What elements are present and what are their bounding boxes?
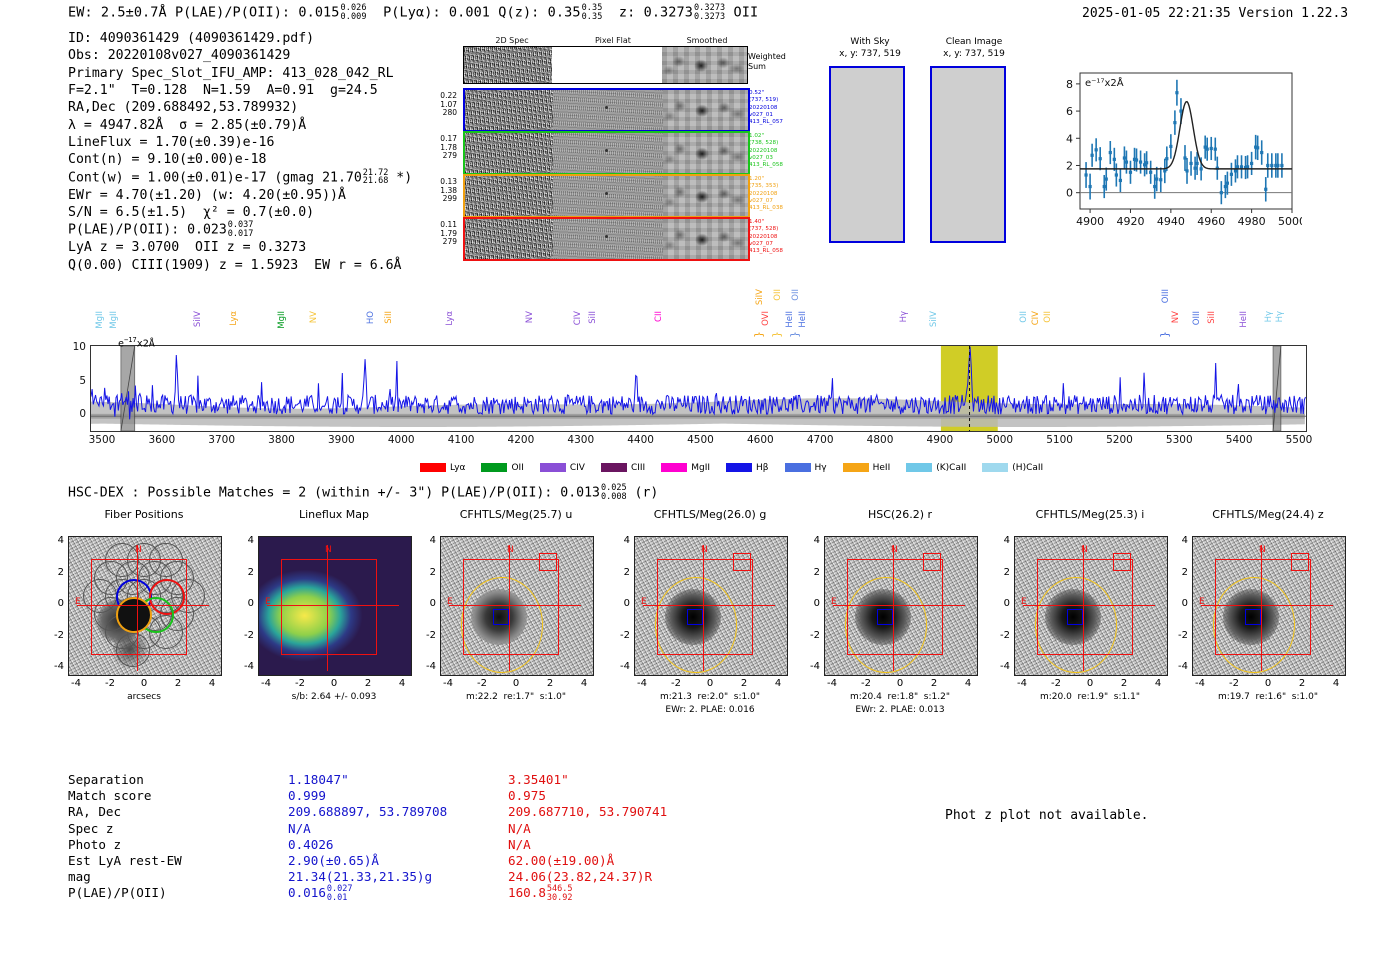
spectrum-line-label: NV [309, 311, 319, 323]
compass-east-label: E [75, 597, 81, 607]
cutout-xtick: 0 [696, 678, 724, 689]
match-plae-lo: 0.01 [327, 893, 347, 903]
spectrum-legend-item: HeII [843, 463, 891, 473]
match-table-value-col1: 1.18047" [288, 772, 349, 788]
cutout-xtick: 4 [954, 678, 982, 689]
svg-text:4900: 4900 [1076, 215, 1104, 228]
cutout-caption: m:20.4 re:1.8" s:1.2" [790, 692, 1010, 702]
cutout-xtick: -2 [852, 678, 880, 689]
spectrum-xtick: 4100 [439, 434, 483, 446]
compass-north-label: N [891, 545, 898, 555]
match-table-label: mag [68, 869, 91, 885]
spectrum-line-label: HeII [1239, 311, 1249, 328]
info-lambda-sigma: λ = 4947.82Å σ = 2.85(±0.79)Å [68, 117, 412, 134]
cutout-caption: m:21.3 re:2.0" s:1.0" [600, 692, 820, 702]
cutout-ytick: -2 [418, 630, 436, 641]
cutout-ytick: 2 [992, 567, 1010, 578]
spectrum-legend-item: Hβ [726, 463, 769, 473]
spectrum-flux-annotation: e−17x2Å [118, 336, 155, 349]
info-snr-chi2: S/N = 6.5(±1.5) χ² = 0.7(±0.0) [68, 204, 412, 221]
cutout-xtick: -4 [818, 678, 846, 689]
info-obs: Obs: 20220108v027_4090361429 [68, 47, 412, 64]
cutout-ytick: 0 [46, 598, 64, 609]
cutout-xtick: -2 [286, 678, 314, 689]
spectrum-line-label: OII [1019, 311, 1029, 323]
cutout-title: Fiber Positions [40, 508, 248, 521]
info-ewr: EWr = 4.70(±1.20) (w: 4.20(±0.95))Å [68, 187, 412, 204]
info-redshifts: LyA z = 3.0700 OII z = 0.3273 [68, 239, 412, 256]
cutout-xtick: -2 [1042, 678, 1070, 689]
cutout-xtick: 2 [730, 678, 758, 689]
cutout-ytick: 0 [1170, 598, 1188, 609]
svg-text:4980: 4980 [1238, 215, 1266, 228]
spectrum-ytick: 10 [60, 341, 86, 353]
cutout-ytick: 2 [612, 567, 630, 578]
cutout-ytick: -2 [46, 630, 64, 641]
spectrum-line-label: NV [1171, 311, 1181, 323]
spectrum-line-label: SiII [384, 311, 394, 324]
match-table-label: P(LAE)/P(OII) [68, 885, 167, 901]
info-plae-poii: P(LAE)/P(OII): 0.0230.0370.017 [68, 221, 412, 239]
match-table-value-col1: 209.688897, 53.789708 [288, 804, 447, 820]
cutout-xtick: 0 [1254, 678, 1282, 689]
spec2d-row-annotation: 1.02" (738, 528) 20220108 v027_03 413_RL… [749, 133, 783, 169]
hscdex-plae-lo: 0.008 [601, 492, 627, 502]
match-table-label: Est LyA rest-EW [68, 853, 182, 869]
cutout-xtick: 0 [1076, 678, 1104, 689]
legend-label: (K)CaII [936, 463, 966, 473]
hscdex-plae: 0.013 [560, 486, 600, 501]
spectrum-line-label: CII [654, 311, 664, 322]
cutout-ytick: -2 [992, 630, 1010, 641]
spectrum-line-label: HeII [798, 311, 808, 328]
svg-text:8: 8 [1066, 78, 1073, 91]
header-z-lo: 0.3273 [694, 12, 725, 22]
spectrum-ytick: 5 [60, 375, 86, 387]
compass-east-label: E [831, 597, 837, 607]
hscdex-text: HSC-DEX : Possible Matches = 2 (within +… [68, 486, 560, 501]
cutout-title: CFHTLS/Meg(24.4) z [1164, 508, 1372, 521]
spectrum-legend-item: (K)CaII [906, 463, 966, 473]
legend-label: Hγ [815, 463, 827, 473]
cutout-ytick: 0 [418, 598, 436, 609]
cutout-xtick: -2 [468, 678, 496, 689]
timestamp-version: 2025-01-05 22:21:35 Version 1.22.3 [1082, 6, 1348, 21]
line-profile-plot: 02468490049204940496049805000e⁻¹⁷x2Å [1040, 55, 1302, 243]
spectrum-line-label: OIII [1161, 289, 1171, 303]
spectrum-line-label: SiII [1207, 311, 1217, 324]
match-table-value-col1: 21.34(21.33,21.35)g [288, 869, 432, 885]
cutout-xtick: 0 [130, 678, 158, 689]
spectrum-line-label: HO [366, 311, 376, 324]
legend-swatch [726, 463, 752, 472]
cutout-panel[interactable]: NE [824, 536, 978, 676]
compass-north-label: N [135, 545, 142, 555]
full-spectrum-plot [90, 345, 1307, 432]
cutout-ytick: 4 [802, 535, 820, 546]
spectrum-xtick: 5300 [1157, 434, 1201, 446]
legend-swatch [540, 463, 566, 472]
spec2d-fiber-row [463, 88, 750, 132]
header-summary: EW: 2.5±0.7Å P(LAE)/P(OII): 0.0150.0260.… [68, 4, 758, 21]
match-table-value-col2: 160.8546.530.92 [508, 885, 573, 902]
crosshair-horizontal [77, 605, 209, 606]
spec2d-fiber-row [463, 217, 750, 261]
cutout-ytick: 4 [46, 535, 64, 546]
match-table-value-col2: N/A [508, 821, 531, 837]
svg-text:e⁻¹⁷x2Å: e⁻¹⁷x2Å [1085, 76, 1124, 89]
spectrum-ytick: 0 [60, 408, 86, 420]
cutout-xtick: -4 [1186, 678, 1214, 689]
header-plae-value: 0.015 [298, 5, 339, 21]
spectrum-line-label: CIV [1031, 311, 1041, 325]
spectrum-xtick: 3500 [80, 434, 124, 446]
header-z-text: z: [619, 5, 644, 21]
header-qz-lo: 0.35 [582, 12, 603, 22]
spectrum-line-label: HeII [785, 311, 795, 328]
legend-label: HeII [873, 463, 891, 473]
cutout-xtick: -4 [62, 678, 90, 689]
info-radec: RA,Dec (209.688492,53.789932) [68, 99, 412, 116]
cutout-xtick: -4 [1008, 678, 1036, 689]
spectrum-legend-item: (H)CaII [982, 463, 1043, 473]
photoz-note: Phot z plot not available. [945, 808, 1149, 823]
match-table-label: RA, Dec [68, 804, 121, 820]
with-sky-title: With Skyx, y: 737, 519 [824, 36, 916, 60]
compass-north-label: N [1081, 545, 1088, 555]
match-plae-value: 0.016 [288, 886, 326, 901]
cutout-xtick: -4 [434, 678, 462, 689]
spec2d-title-pixelflat: Pixel Flat [582, 36, 644, 45]
cutout-ytick: 4 [236, 535, 254, 546]
cutout-ytick: -2 [1170, 630, 1188, 641]
spectrum-line-brace: { [754, 331, 765, 338]
crosshair-horizontal [267, 605, 399, 606]
cutout-xlabel: arcsecs [40, 692, 248, 702]
cutout-xtick: -4 [252, 678, 280, 689]
spectrum-line-label: CIV [573, 311, 583, 325]
cutout-panel[interactable]: NE [68, 536, 222, 676]
spectrum-line-label: OII [773, 289, 783, 301]
spectrum-legend: LyαOIICIVCIIIMgIIHβHγHeII(K)CaII(H)CaII [420, 455, 1020, 474]
crosshair-vertical [137, 545, 138, 671]
legend-label: CIV [570, 463, 585, 473]
hscdex-suffix: (r) [635, 486, 659, 501]
spectrum-line-label: Lyα [229, 311, 239, 326]
cutout-ytick: -4 [992, 661, 1010, 672]
legend-swatch [661, 463, 687, 472]
compass-east-label: E [641, 597, 647, 607]
spectrum-line-label: Hγ [899, 311, 909, 322]
legend-swatch [481, 463, 507, 472]
cutout-panel[interactable]: NE [258, 536, 412, 676]
spectrum-xtick: 3700 [200, 434, 244, 446]
header-plya-qz-text: P(Lyα): 0.001 Q(z): [383, 5, 548, 21]
spectrum-line-brace: { [1160, 331, 1171, 338]
cutout-xtick: 2 [920, 678, 948, 689]
cutout-ytick: -4 [1170, 661, 1188, 672]
compass-north-label: N [701, 545, 708, 555]
match-table-value-col1: N/A [288, 821, 311, 837]
cutout-panel[interactable]: NE [440, 536, 594, 676]
spec2d-title-smoothed: Smoothed [672, 36, 742, 45]
spectrum-legend-item: Hγ [785, 463, 827, 473]
cutout-panel[interactable]: NE [1014, 536, 1168, 676]
cutout-ytick: 0 [236, 598, 254, 609]
spec2d-row-numbers: 0.22 1.07 280 [425, 92, 457, 118]
svg-text:2: 2 [1066, 159, 1073, 172]
header-z-value: 0.3273 [644, 5, 693, 21]
spec2d-weighted-sum-row [463, 46, 748, 84]
cutout-xtick: 4 [764, 678, 792, 689]
svg-text:4960: 4960 [1197, 215, 1225, 228]
match-table-value-col2: 209.687710, 53.790741 [508, 804, 667, 820]
spectrum-legend-item: Lyα [420, 463, 465, 473]
info-lineflux: LineFlux = 1.70(±0.39)e-16 [68, 134, 412, 151]
clean-image-title: Clean Imagex, y: 737, 519 [924, 36, 1024, 60]
cutout-xtick: 4 [570, 678, 598, 689]
cutout-xtick: 2 [354, 678, 382, 689]
legend-swatch [982, 463, 1008, 472]
compass-east-label: E [447, 597, 453, 607]
spectrum-legend-item: OII [481, 463, 523, 473]
spectrum-line-label: SiIV [193, 311, 203, 327]
spectrum-line-label: SiIV [755, 289, 765, 305]
cutout-ytick: 4 [418, 535, 436, 546]
match-table-value-col2: 24.06(23.82,24.37)R [508, 869, 652, 885]
cutout-xtick: 0 [502, 678, 530, 689]
info-id: ID: 4090361429 (4090361429.pdf) [68, 30, 412, 47]
compass-east-label: E [265, 597, 271, 607]
cutout-title: Lineflux Map [230, 508, 438, 521]
svg-text:4: 4 [1066, 132, 1073, 145]
spectrum-line-label: Hγ [1275, 311, 1285, 322]
compass-north-label: N [507, 545, 514, 555]
spectrum-xtick: 5100 [1038, 434, 1082, 446]
spectrum-line-label: NV [525, 311, 535, 323]
spectrum-xtick: 5000 [978, 434, 1022, 446]
cutout-xtick: -2 [1220, 678, 1248, 689]
cutout-xtick: -2 [662, 678, 690, 689]
cutout-title: CFHTLS/Meg(26.0) g [606, 508, 814, 521]
legend-swatch [601, 463, 627, 472]
cutout-ytick: -2 [802, 630, 820, 641]
spectrum-xtick: 4300 [559, 434, 603, 446]
info-seeing: F=2.1" T=0.128 N=1.59 A=0.91 g=24.5 [68, 82, 412, 99]
cutout-xtick: 2 [536, 678, 564, 689]
compass-east-label: E [1021, 597, 1027, 607]
cutout-ytick: -4 [236, 661, 254, 672]
svg-text:5000: 5000 [1278, 215, 1302, 228]
svg-text:4940: 4940 [1157, 215, 1185, 228]
spectrum-line-brace: { [772, 331, 783, 338]
match-plae-lo: 30.92 [547, 893, 573, 903]
match-table-value-col2: N/A [508, 837, 531, 853]
spectrum-line-label: SiII [588, 311, 598, 324]
match-table-value-col1: 2.90(±0.65)Å [288, 853, 379, 869]
match-table-value-col1: 0.0160.0270.01 [288, 885, 353, 902]
match-table-value-col2: 0.975 [508, 788, 546, 804]
hscdex-summary: HSC-DEX : Possible Matches = 2 (within +… [68, 484, 658, 501]
cutout-panel[interactable]: NE [634, 536, 788, 676]
header-plae-lo: 0.009 [341, 12, 367, 22]
legend-label: Lyα [450, 463, 465, 473]
match-table-value-col1: 0.4026 [288, 837, 334, 853]
cutout-xtick: 4 [1144, 678, 1172, 689]
legend-label: (H)CaII [1012, 463, 1043, 473]
spec2d-row-annotation: 0.52" (737, 519) 20220108 v027_01 413_RL… [749, 90, 783, 126]
svg-text:4920: 4920 [1116, 215, 1144, 228]
cutout-panel[interactable]: NE [1192, 536, 1346, 676]
full-spectrum-svg [91, 346, 1306, 431]
cutout-ytick: 2 [1170, 567, 1188, 578]
cutout-xtick: 0 [320, 678, 348, 689]
legend-swatch [843, 463, 869, 472]
detection-box [281, 559, 377, 655]
clean-image [930, 66, 1006, 243]
match-table-value-col2: 3.35401" [508, 772, 569, 788]
info-cont-w: Cont(w) = 1.00(±0.01)e-17 (gmag 21.7021.… [68, 169, 412, 187]
spectrum-line-brace: { [790, 331, 801, 338]
source-info-block: ID: 4090361429 (4090361429.pdf) Obs: 202… [68, 30, 412, 274]
crosshair-vertical [327, 545, 328, 671]
spectrum-xtick: 4900 [918, 434, 962, 446]
spec2d-weighted-sum-label: Weighted Sum [748, 52, 786, 71]
spectrum-line-labels: MgII{MgII{SiIV{Lyα{MgII{NV{HO{SiII{Lyα{N… [0, 285, 1400, 347]
cutout-xtick: 4 [1322, 678, 1350, 689]
cutout-title: CFHTLS/Meg(25.7) u [412, 508, 620, 521]
legend-label: MgII [691, 463, 710, 473]
cutout-xtick: 2 [1288, 678, 1316, 689]
spectrum-line-label: MgII [109, 311, 119, 329]
spectrum-legend-item: CIII [601, 463, 645, 473]
spectrum-xtick: 3800 [260, 434, 304, 446]
cutout-xtick: 0 [886, 678, 914, 689]
cutout-xtick: 4 [198, 678, 226, 689]
spectrum-line-label: SiIV [929, 311, 939, 327]
cutout-ytick: 2 [802, 567, 820, 578]
cutout-ytick: 2 [418, 567, 436, 578]
spec2d-fiber-row [463, 131, 750, 175]
cutout-ytick: -2 [612, 630, 630, 641]
cutout-ytick: 4 [612, 535, 630, 546]
cutout-caption: m:19.7 re:1.6" s:1.0" [1158, 692, 1378, 702]
svg-text:6: 6 [1066, 105, 1073, 118]
info-cont-n: Cont(n) = 9.10(±0.00)e-18 [68, 151, 412, 168]
spectrum-line-label: MgII [277, 311, 287, 329]
spectrum-xtick: 5200 [1097, 434, 1141, 446]
spectrum-xtick: 5400 [1217, 434, 1261, 446]
match-table-label: Photo z [68, 837, 121, 853]
spectrum-xtick: 4000 [379, 434, 423, 446]
with-sky-image [829, 66, 905, 243]
compass-north-label: N [1259, 545, 1266, 555]
cutout-ytick: 2 [46, 567, 64, 578]
spec2d-row-annotation: 1.40" (737, 528) 20220108 v027_07 413_RL… [749, 219, 783, 255]
cutout-ytick: -4 [46, 661, 64, 672]
cutout-ytick: -4 [418, 661, 436, 672]
spectrum-xtick: 4600 [738, 434, 782, 446]
header-ew-plae-prefix: EW: 2.5±0.7Å P(LAE)/P(OII): [68, 5, 298, 21]
legend-swatch [785, 463, 811, 472]
header-qz-value: 0.35 [548, 5, 581, 21]
match-table-label: Separation [68, 772, 144, 788]
cutout-xtick: -4 [628, 678, 656, 689]
detection-box [91, 559, 187, 655]
spectrum-line-label: MgII [95, 311, 105, 329]
info-primary-slot: Primary Spec_Slot_IFU_AMP: 413_028_042_R… [68, 65, 412, 82]
cutout-caption-secondary: EWr: 2. PLAE: 0.016 [600, 705, 820, 715]
legend-label: Hβ [756, 463, 769, 473]
cutout-caption: m:22.2 re:1.7" s:1.0" [406, 692, 626, 702]
header-z-suffix: OII [734, 5, 759, 21]
spectrum-xtick: 4500 [678, 434, 722, 446]
match-table-label: Spec z [68, 821, 114, 837]
cutout-title: HSC(26.2) r [796, 508, 1004, 521]
spectrum-legend-item: CIV [540, 463, 585, 473]
cutout-xtick: 2 [164, 678, 192, 689]
spec2d-row-numbers: 0.13 1.38 299 [425, 178, 457, 204]
spec2d-row-numbers: 0.17 1.78 279 [425, 135, 457, 161]
cutout-ytick: -4 [612, 661, 630, 672]
spec2d-row-numbers: 0.11 1.79 279 [425, 221, 457, 247]
cutout-ytick: 0 [992, 598, 1010, 609]
svg-text:0: 0 [1066, 187, 1073, 200]
spectrum-line-label: OII [791, 289, 801, 301]
cutout-ytick: -4 [802, 661, 820, 672]
cutout-ytick: 4 [1170, 535, 1188, 546]
legend-swatch [906, 463, 932, 472]
cutout-ytick: -2 [236, 630, 254, 641]
legend-label: OII [511, 463, 523, 473]
cutout-xtick: 4 [388, 678, 416, 689]
cutout-xtick: -2 [96, 678, 124, 689]
line-profile-svg: 02468490049204940496049805000e⁻¹⁷x2Å [1040, 55, 1302, 243]
compass-north-label: N [325, 545, 332, 555]
spectrum-xtick: 5500 [1277, 434, 1321, 446]
spectrum-xtick: 4800 [858, 434, 902, 446]
match-table-value-col2: 62.00(±19.00)Å [508, 853, 614, 869]
spectrum-line-label: OII [1043, 311, 1053, 323]
spec2d-fiber-row [463, 174, 750, 218]
spectrum-xtick: 4700 [798, 434, 842, 446]
cutout-ytick: 2 [236, 567, 254, 578]
match-plae-value: 160.8 [508, 886, 546, 901]
spectrum-xtick: 3900 [319, 434, 363, 446]
cutout-title: CFHTLS/Meg(25.3) i [986, 508, 1194, 521]
spectrum-line-label: Lyα [445, 311, 455, 326]
match-table-label: Match score [68, 788, 151, 804]
cutout-ytick: 4 [992, 535, 1010, 546]
spectrum-xtick: 3600 [140, 434, 184, 446]
legend-swatch [420, 463, 446, 472]
spectrum-line-label: Hγ [1264, 311, 1274, 322]
spectrum-line-label: OIII [1192, 311, 1202, 325]
cutout-ytick: 0 [612, 598, 630, 609]
spectrum-line-label: OVI [761, 311, 771, 326]
cutout-ytick: 0 [802, 598, 820, 609]
cutout-xtick: 2 [1110, 678, 1138, 689]
match-table-value-col1: 0.999 [288, 788, 326, 804]
compass-east-label: E [1199, 597, 1205, 607]
spectrum-xtick: 4400 [619, 434, 663, 446]
cutout-caption-secondary: EWr: 2. PLAE: 0.013 [790, 705, 1010, 715]
spectrum-xtick: 4200 [499, 434, 543, 446]
spec2d-title-2dspec: 2D Spec [482, 36, 542, 45]
info-q-ciii: Q(0.00) CIII(1909) z = 1.5923 EW r = 6.6… [68, 257, 412, 274]
spectrum-legend-item: MgII [661, 463, 710, 473]
spec2d-row-annotation: 1.20" (735, 353) 20220108 v027_07 413_RL… [749, 176, 783, 212]
